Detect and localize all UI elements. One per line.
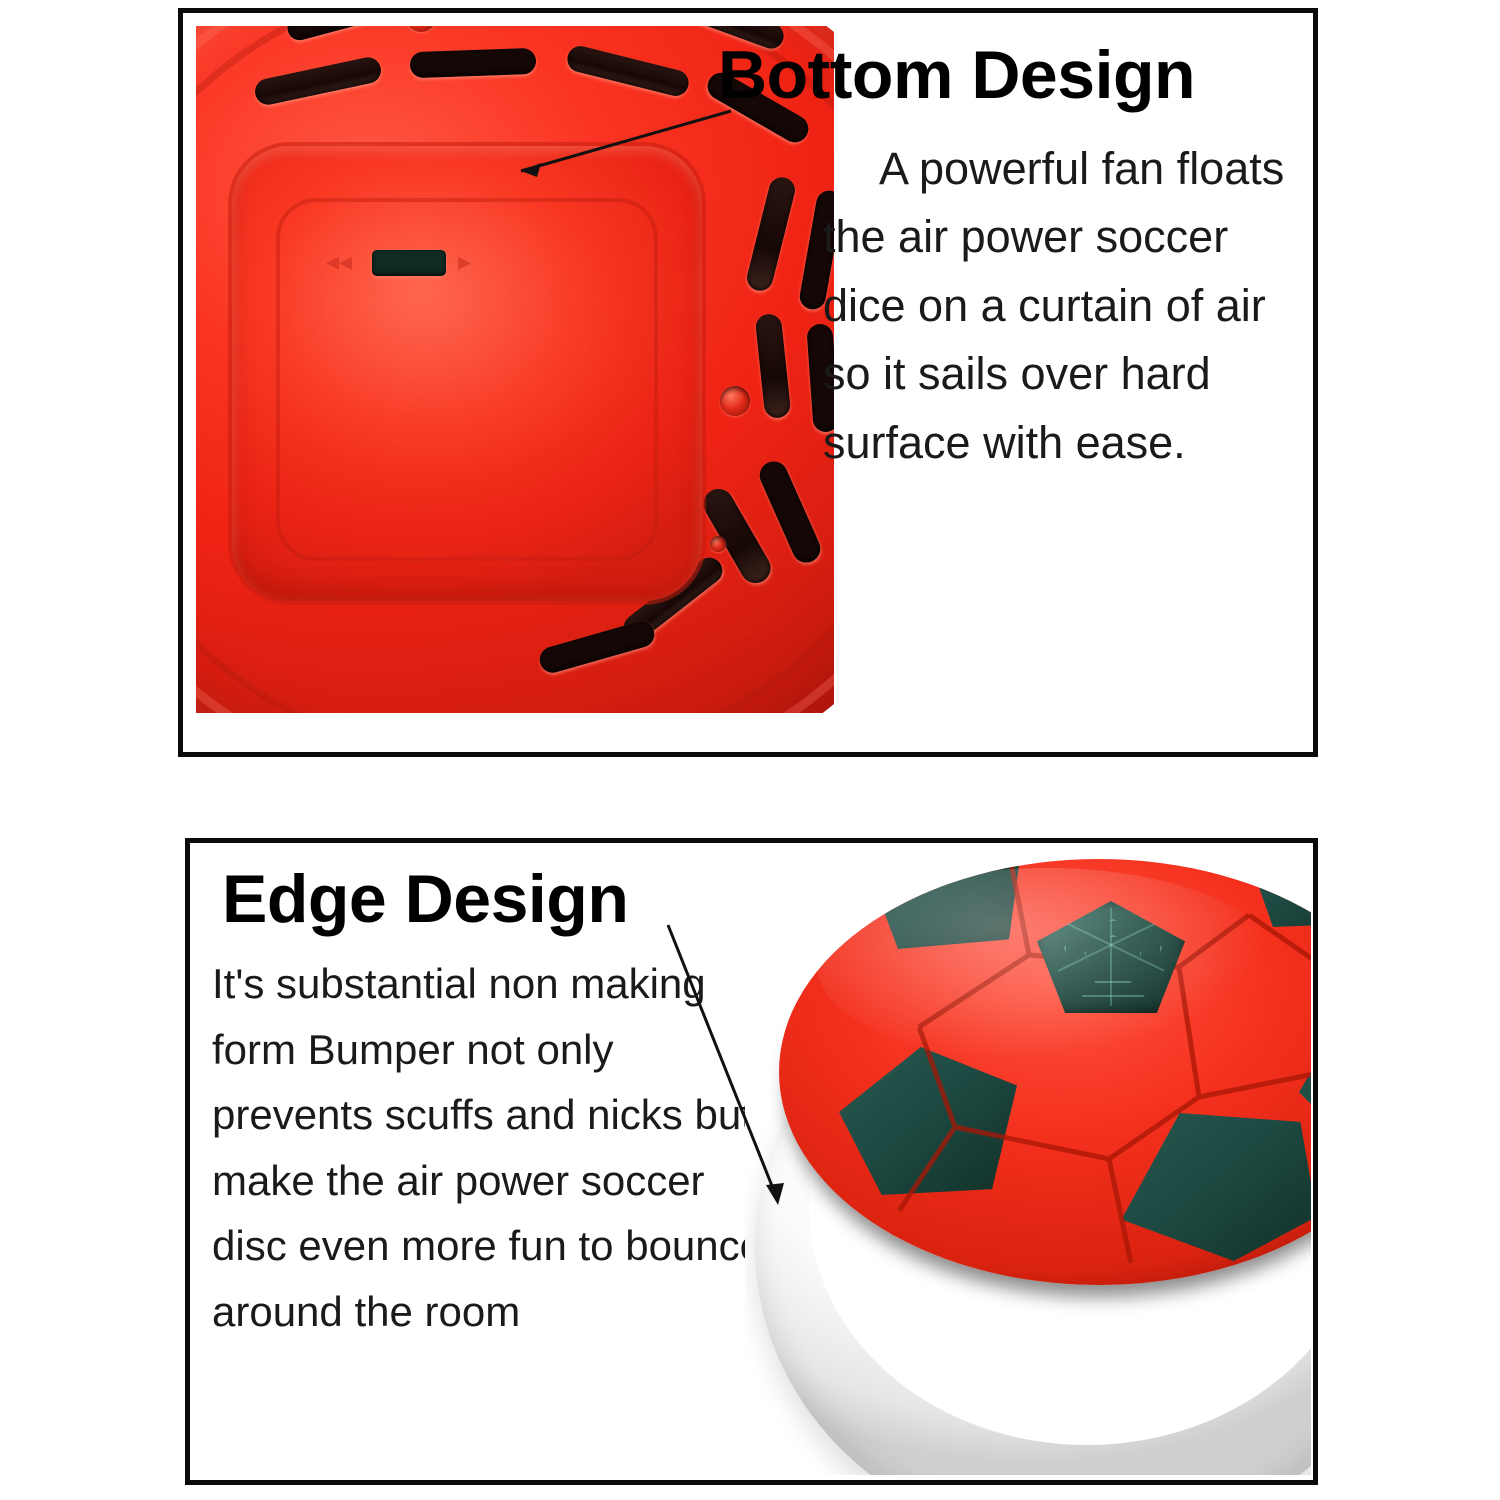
mould-arrow-mark: ◂◂ (326, 246, 352, 277)
ball-facet-dark (1109, 1113, 1311, 1261)
battery-cover-latch-slot (372, 250, 446, 276)
screw-hole (720, 386, 750, 416)
bottom-design-product-photo: ◂◂ ▸ (196, 26, 834, 713)
air-vent-slot (410, 48, 537, 78)
edge-design-product-photo (745, 855, 1311, 1475)
edge-design-heading: Edge Design (222, 865, 628, 933)
mould-arrow-mark: ▸ (458, 246, 471, 277)
panel-edge-design: Edge Design It's substantial non making … (185, 838, 1318, 1485)
ball-facet-dark (871, 859, 1021, 949)
bottom-design-body-text: A powerful fan floats the air power socc… (823, 135, 1303, 477)
hover-disc-underside-body: ◂◂ ▸ (196, 26, 834, 713)
ball-facet-dark (839, 1047, 1017, 1195)
edge-design-body-text: It's substantial non making form Bumper … (212, 951, 772, 1344)
ball-facet-dark (1249, 859, 1311, 927)
screw-hole (710, 536, 726, 552)
battery-compartment-cover: ◂◂ ▸ (232, 146, 702, 601)
panel-bottom-design: ◂◂ ▸ Bottom Design A powerful fan floats… (178, 8, 1318, 757)
centre-fan-grille (1037, 901, 1185, 1013)
bottom-design-heading: Bottom Design (718, 41, 1195, 109)
grille-spoke (1110, 908, 1112, 1007)
